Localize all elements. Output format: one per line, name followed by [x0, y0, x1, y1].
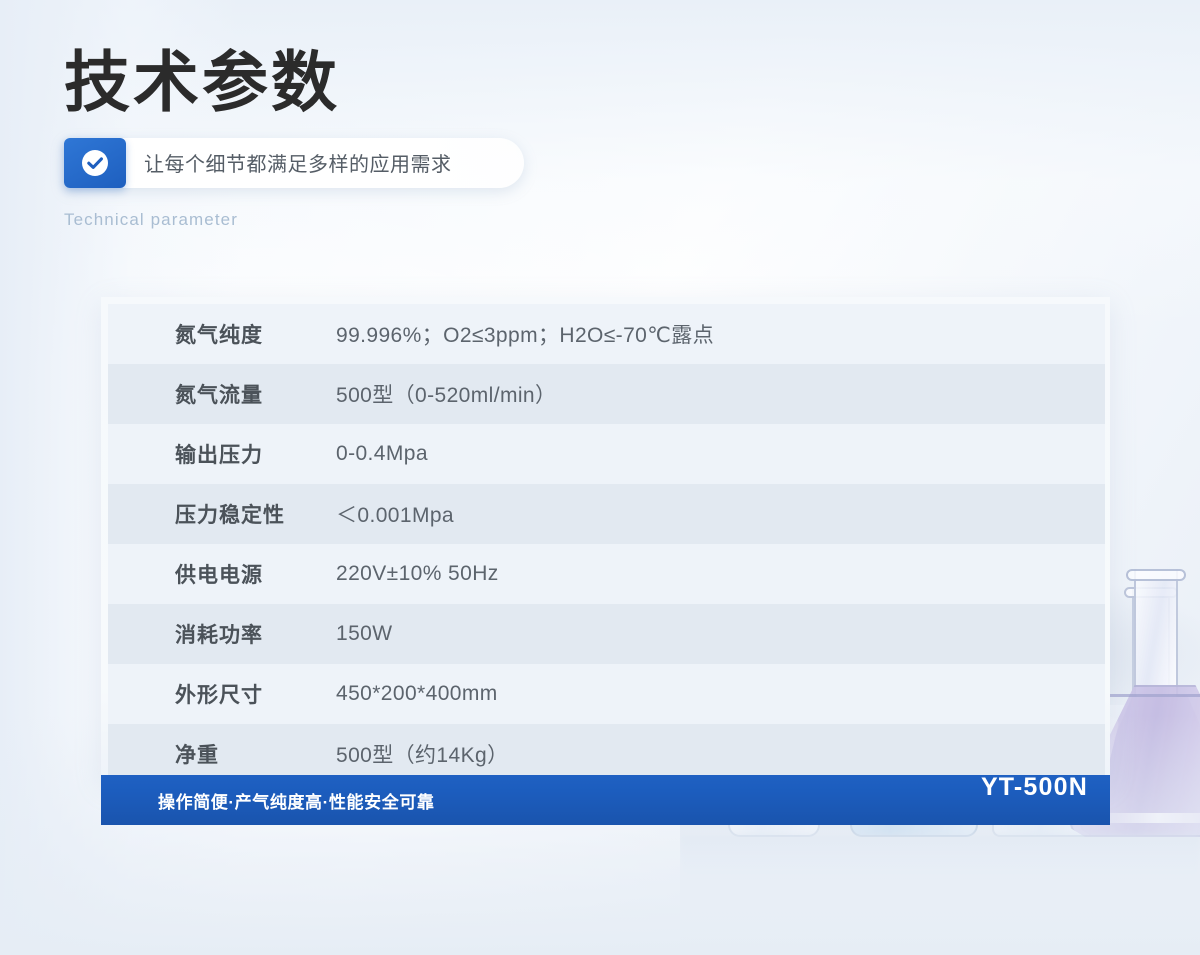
- product-spec-page: 技术参数 让每个细节都满足多样的应用需求 Technical parameter…: [0, 0, 1200, 955]
- spec-row: 输出压力0-0.4Mpa: [108, 424, 1105, 484]
- footer-bar: 操作简便·产气纯度高·性能安全可靠 YT-500N: [101, 775, 1110, 825]
- spec-value: 99.996%；O2≤3ppm；H2O≤-70℃露点: [336, 319, 714, 349]
- spec-label: 氮气纯度: [108, 319, 336, 349]
- spec-value: 150W: [336, 622, 392, 646]
- spec-value: 0-0.4Mpa: [336, 442, 428, 466]
- spec-value: 500型（约14Kg）: [336, 739, 508, 769]
- spec-value: ＜0.001Mpa: [336, 499, 454, 529]
- spec-row: 压力稳定性＜0.001Mpa: [108, 484, 1105, 544]
- spec-label: 消耗功率: [108, 619, 336, 649]
- page-title: 技术参数: [64, 46, 684, 120]
- spec-value: 450*200*400mm: [336, 682, 498, 706]
- spec-table-card: 氮气纯度99.996%；O2≤3ppm；H2O≤-70℃露点氮气流量500型（0…: [101, 297, 1110, 782]
- page-header: 技术参数 让每个细节都满足多样的应用需求 Technical parameter: [64, 46, 684, 230]
- spec-row: 氮气流量500型（0-520ml/min）: [108, 364, 1105, 424]
- subtitle-pill: 让每个细节都满足多样的应用需求: [64, 138, 524, 188]
- spec-label: 氮气流量: [108, 379, 336, 409]
- check-circle-icon: [64, 138, 126, 188]
- english-subtitle: Technical parameter: [64, 210, 684, 230]
- spec-row: 外形尺寸450*200*400mm: [108, 664, 1105, 724]
- spec-value: 220V±10% 50Hz: [336, 562, 499, 586]
- spec-row: 供电电源220V±10% 50Hz: [108, 544, 1105, 604]
- spec-label: 压力稳定性: [108, 499, 336, 529]
- spec-label: 净重: [108, 739, 336, 769]
- subtitle-text: 让每个细节都满足多样的应用需求: [126, 138, 452, 188]
- spec-label: 供电电源: [108, 559, 336, 589]
- spec-value: 500型（0-520ml/min）: [336, 379, 556, 409]
- spec-table-rows: 氮气纯度99.996%；O2≤3ppm；H2O≤-70℃露点氮气流量500型（0…: [108, 304, 1105, 784]
- spec-label: 输出压力: [108, 439, 336, 469]
- footer-model-name: YT-500N: [981, 750, 1088, 824]
- spec-row: 消耗功率150W: [108, 604, 1105, 664]
- spec-label: 外形尺寸: [108, 679, 336, 709]
- spec-row: 氮气纯度99.996%；O2≤3ppm；H2O≤-70℃露点: [108, 304, 1105, 364]
- footer-tagline: 操作简便·产气纯度高·性能安全可靠: [158, 775, 435, 825]
